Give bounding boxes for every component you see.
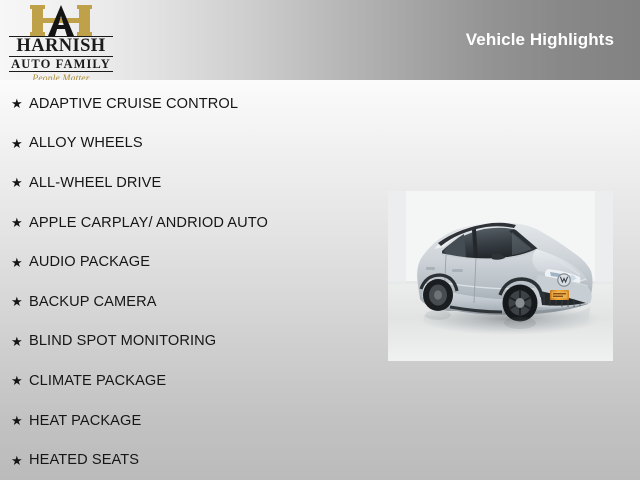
page-title: Vehicle Highlights (466, 30, 614, 50)
front-wheel (503, 285, 538, 322)
list-item-label: BLIND SPOT MONITORING (29, 333, 216, 349)
list-item: ★ HEATED SEATS (0, 440, 380, 480)
list-item: ★ ALL-WHEEL DRIVE (0, 163, 380, 203)
star-bullet-icon: ★ (11, 97, 29, 110)
list-item: ★ AUDIO PACKAGE (0, 242, 380, 282)
star-bullet-icon: ★ (11, 414, 29, 427)
list-item-label: HEATED SEATS (29, 452, 139, 468)
list-item: ★ BACKUP CAMERA (0, 282, 380, 322)
harnish-ha-monogram-icon (9, 5, 113, 36)
list-item: ★ HEAT PACKAGE (0, 401, 380, 441)
star-bullet-icon: ★ (11, 216, 29, 229)
star-bullet-icon: ★ (11, 176, 29, 189)
dealer-logo: HARNISH AUTO FAMILY People Matter (9, 5, 113, 75)
list-item-label: ALLOY WHEELS (29, 135, 143, 151)
logo-subname: AUTO FAMILY (9, 57, 113, 72)
list-item-label: ADAPTIVE CRUISE CONTROL (29, 96, 238, 112)
list-item-label: ALL-WHEEL DRIVE (29, 175, 161, 191)
list-item: ★ ADAPTIVE CRUISE CONTROL (0, 84, 380, 124)
list-item-label: BACKUP CAMERA (29, 294, 157, 310)
logo-tagline: People Matter (9, 73, 113, 80)
page-header: HARNISH AUTO FAMILY People Matter Vehicl… (0, 0, 640, 80)
list-item: ★ ALLOY WHEELS (0, 124, 380, 164)
logo-wordmark: HARNISH AUTO FAMILY People Matter (9, 36, 113, 80)
list-item: ★ CLIMATE PACKAGE (0, 361, 380, 401)
star-bullet-icon: ★ (11, 295, 29, 308)
list-item: ★ BLIND SPOT MONITORING (0, 322, 380, 362)
star-bullet-icon: ★ (11, 256, 29, 269)
license-plate (550, 290, 569, 300)
vehicle-highlights-list: ★ ADAPTIVE CRUISE CONTROL ★ ALLOY WHEELS… (0, 84, 380, 480)
star-bullet-icon: ★ (11, 374, 29, 387)
list-item-label: APPLE CARPLAY/ ANDRIOD AUTO (29, 215, 268, 231)
list-item-label: AUDIO PACKAGE (29, 254, 150, 270)
star-bullet-icon: ★ (11, 137, 29, 150)
star-bullet-icon: ★ (11, 335, 29, 348)
vehicle-photo (388, 191, 613, 361)
list-item-label: CLIMATE PACKAGE (29, 373, 166, 389)
rear-wheel (423, 279, 453, 311)
star-bullet-icon: ★ (11, 454, 29, 467)
logo-name: HARNISH (9, 36, 113, 57)
vw-roundel-icon (558, 274, 570, 286)
list-item: ★ APPLE CARPLAY/ ANDRIOD AUTO (0, 203, 380, 243)
list-item-label: HEAT PACKAGE (29, 413, 141, 429)
vehicle-highlights-page: HARNISH AUTO FAMILY People Matter Vehicl… (0, 0, 640, 480)
